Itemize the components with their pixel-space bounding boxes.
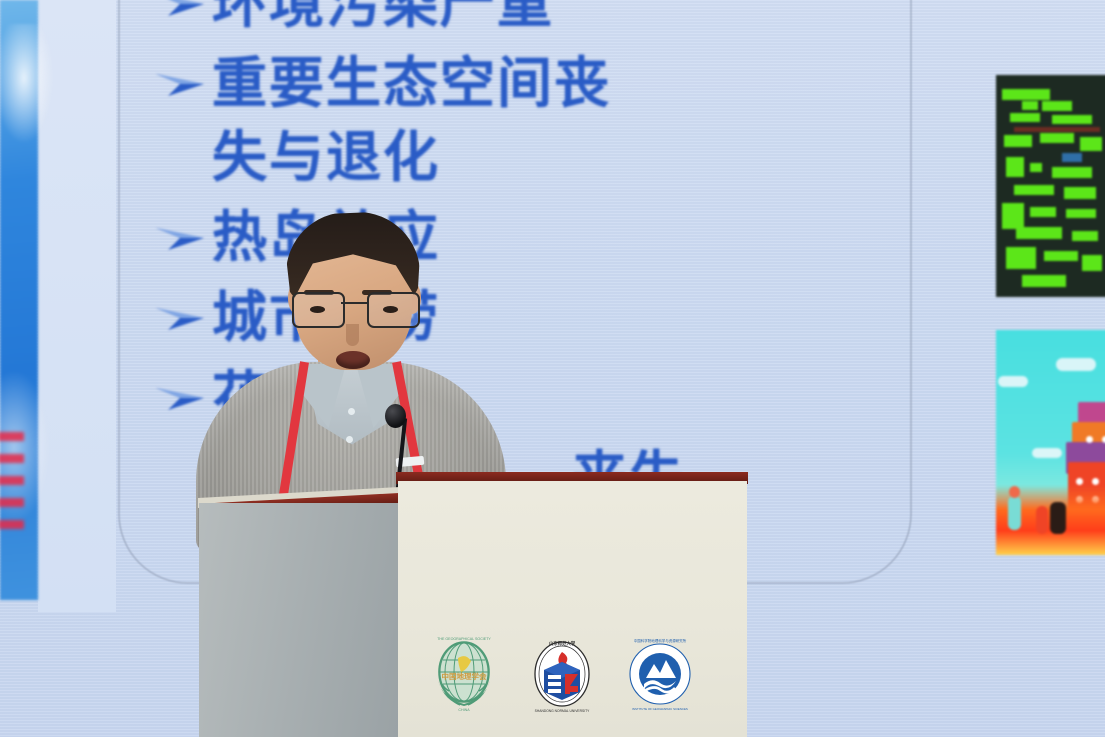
shirt-button: [346, 436, 353, 443]
cloud-wash-upper: [0, 24, 54, 144]
satellite-landcover-image: [996, 75, 1105, 297]
bullet-text: 重要生态空间丧 失与退化: [212, 46, 611, 194]
svg-text:中国地理学会: 中国地理学会: [442, 671, 487, 681]
urban-heat-illustration: [996, 330, 1105, 555]
svg-text:CHINA: CHINA: [458, 708, 470, 712]
red-text-block: [0, 432, 24, 542]
adjacent-blue-slide-edge: [0, 0, 38, 600]
nose: [346, 324, 359, 346]
svg-text:中国科学院地理科学与资源研究所: 中国科学院地理科学与资源研究所: [634, 638, 687, 643]
bullet-text: 环境污染严重: [212, 0, 554, 40]
lens-left: [292, 292, 345, 328]
shirt-button: [348, 408, 355, 415]
mouth: [336, 351, 370, 369]
podium-side-panel: [199, 503, 399, 737]
glasses-bridge: [341, 302, 367, 304]
svg-text:INSTITUTE OF GEOGRAPHIC SCIENC: INSTITUTE OF GEOGRAPHIC SCIENCES: [632, 707, 688, 711]
arrow-chevron-icon: [150, 54, 212, 118]
eye-right: [383, 306, 398, 313]
arrow-chevron-icon: [150, 0, 212, 38]
gooseneck-microphone: [385, 404, 406, 428]
svg-text:山东师范大学: 山东师范大学: [549, 640, 576, 647]
list-item: 重要生态空间丧 失与退化: [150, 46, 910, 194]
shandong-normal-university-logo: 山东师范大学 SHANDONG NORMAL UNIVERSITY: [526, 632, 598, 716]
presentation-photo-scene: 环境污染严重 重要生态空间丧 失与退化 热岛效应: [0, 0, 1105, 737]
svg-text:THE GEOGRAPHICAL SOCIETY: THE GEOGRAPHICAL SOCIETY: [437, 637, 491, 641]
eye-left: [310, 306, 325, 313]
mountain-river-institute-logo: 中国科学院地理科学与资源研究所 INSTITUTE OF GEOGRAPHIC …: [624, 632, 696, 716]
geographical-society-of-china-logo: 中国地理学会 THE GEOGRAPHICAL SOCIETY CHINA: [428, 632, 500, 716]
podium: 中国地理学会 THE GEOGRAPHICAL SOCIETY CHINA 山东…: [199, 481, 747, 737]
lens-right: [367, 292, 420, 328]
list-item: 环境污染严重: [150, 0, 910, 40]
svg-text:SHANDONG NORMAL UNIVERSITY: SHANDONG NORMAL UNIVERSITY: [535, 709, 590, 713]
podium-logo-row: 中国地理学会 THE GEOGRAPHICAL SOCIETY CHINA 山东…: [428, 629, 718, 719]
glasses-icon: [292, 292, 416, 326]
